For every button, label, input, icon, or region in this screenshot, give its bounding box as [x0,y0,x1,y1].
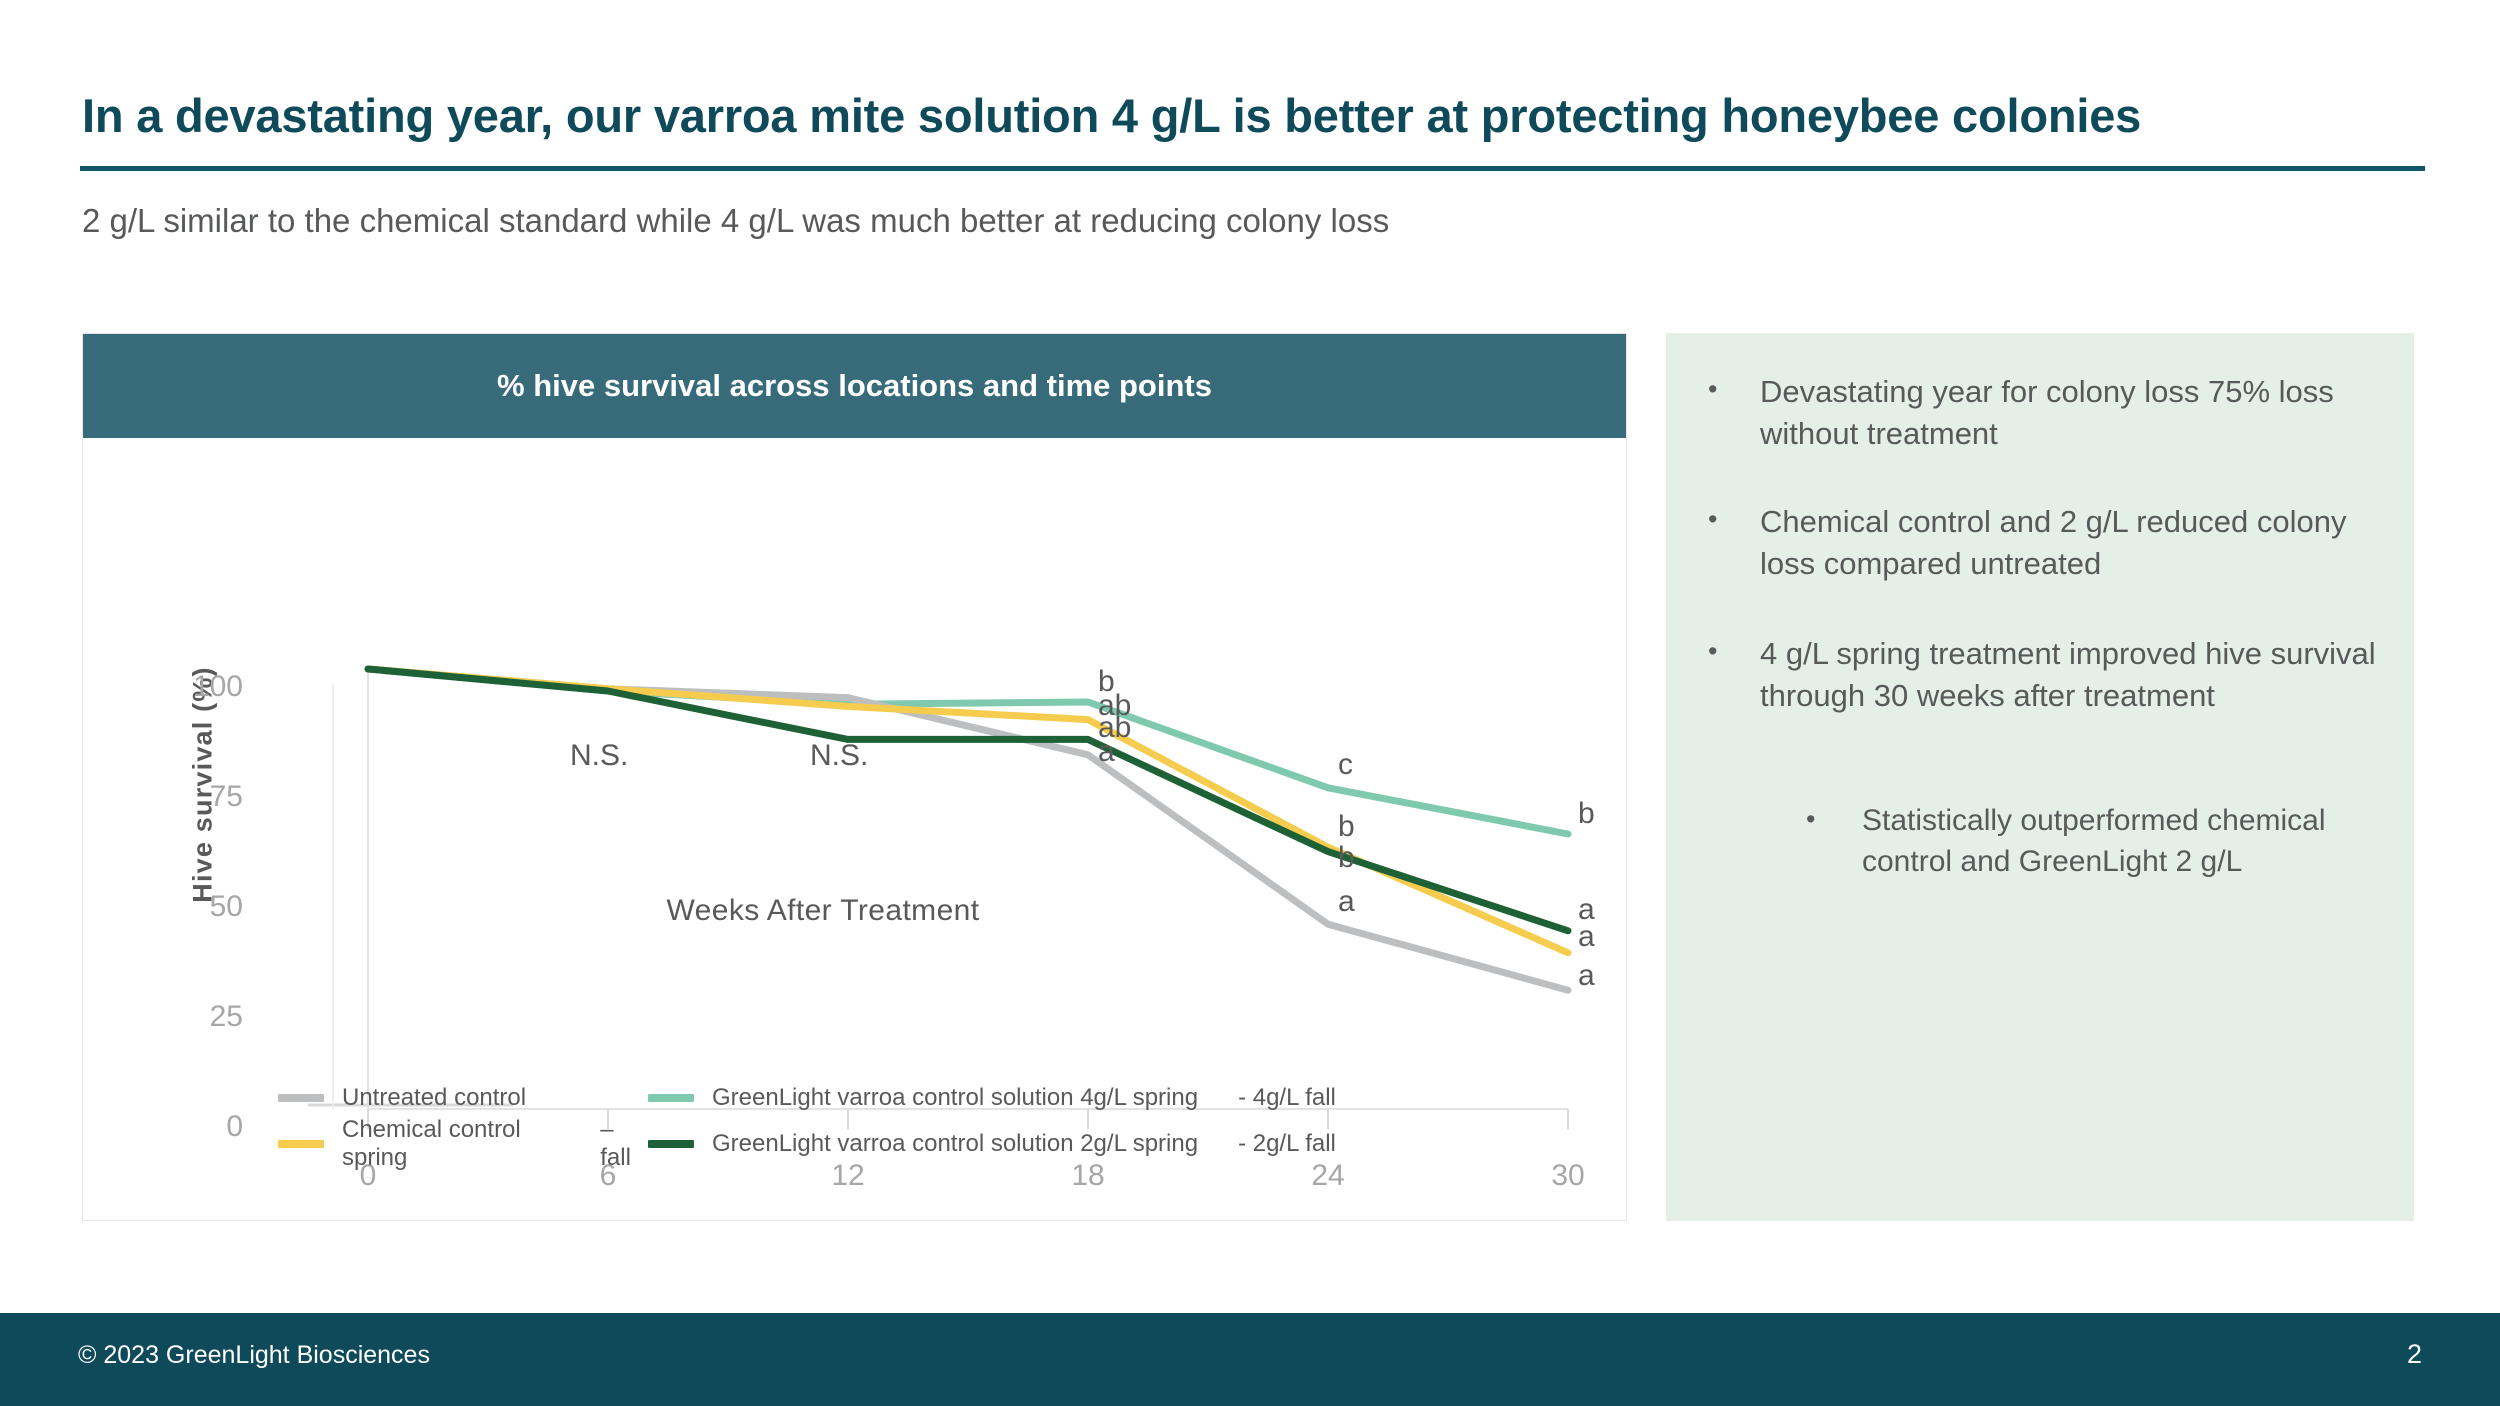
series-line-2 [368,669,1568,834]
legend-sublabel-chemical-control: – fall [600,1116,648,1172]
annotation-letter-18-5: a [1098,735,1115,769]
annotation-letter-30-13: a [1578,959,1595,993]
legend-sublabel-greenlight-4gl: - 4g/L fall [1238,1084,1336,1112]
legend-item-chemical-control[interactable]: Chemical control spring – fall [278,1116,648,1172]
legend-label-untreated-control: Untreated control [342,1084,526,1112]
legend-label-greenlight-4gl: GreenLight varroa control solution 4g/L … [712,1084,1198,1112]
series-line-0 [368,669,1568,990]
annotation-letter-24-7: b [1338,810,1355,844]
insights-panel: • Devastating year for colony loss 75% l… [1666,333,2414,1221]
bullet-glyph: • [1708,633,1760,717]
chart-plot-area: Hive survival (%) Weeks After Treatment … [83,439,1626,1220]
legend-item-greenlight-4gl[interactable]: GreenLight varroa control solution 4g/L … [648,1084,1336,1112]
legend-label-chemical-control: Chemical control spring [342,1116,578,1172]
bullet-glyph: • [1708,371,1760,455]
annotation-letter-24-8: b [1338,841,1355,875]
chart-card: % hive survival across locations and tim… [82,333,1627,1221]
title-divider [80,166,2425,171]
legend-swatch-greenlight-4gl [648,1094,694,1102]
annotation-letter-24-6: c [1338,748,1353,782]
insight-bullet-2: • Chemical control and 2 g/L reduced col… [1708,501,2398,585]
legend-swatch-greenlight-2gl [648,1140,694,1148]
series-lines [368,669,1568,990]
annotation-letter-24-9: a [1338,885,1355,919]
footer-copyright: © 2023 GreenLight Biosciences [78,1341,430,1370]
annotation-ns-6: N.S. [570,739,628,773]
legend-item-greenlight-2gl[interactable]: GreenLight varroa control solution 2g/L … [648,1130,1336,1158]
annotation-ns-12: N.S. [810,739,868,773]
insight-bullet-1-text: Devastating year for colony loss 75% los… [1760,371,2368,455]
chart-title: % hive survival across locations and tim… [497,368,1212,404]
legend-label-greenlight-2gl: GreenLight varroa control solution 2g/L … [712,1130,1198,1158]
series-line-1 [368,669,1568,953]
legend-row: Untreated control GreenLight varroa cont… [278,1075,1568,1121]
legend-sublabel-greenlight-2gl: - 2g/L fall [1238,1130,1336,1158]
insight-bullet-2-text: Chemical control and 2 g/L reduced colon… [1760,501,2398,585]
footer-page-number: 2 [2407,1339,2422,1370]
page-title: In a devastating year, our varroa mite s… [82,88,2412,143]
chart-legend: Untreated control GreenLight varroa cont… [278,1075,1568,1167]
page-subtitle: 2 g/L similar to the chemical standard w… [82,202,2412,240]
legend-row: Chemical control spring – fall GreenLigh… [278,1121,1568,1167]
insight-bullet-3-sub-1-text: Statistically outperformed chemical cont… [1862,801,2366,883]
insight-bullet-3-sub-1: • Statistically outperformed chemical co… [1806,801,2366,883]
bullet-glyph: • [1708,501,1760,585]
legend-item-untreated-control[interactable]: Untreated control [278,1084,648,1112]
legend-swatch-chemical-control [278,1140,324,1148]
insight-bullet-3: • 4 g/L spring treatment improved hive s… [1708,633,2408,717]
chart-header-banner: % hive survival across locations and tim… [83,334,1626,438]
legend-swatch-untreated-control [278,1094,324,1102]
annotation-letter-30-12: a [1578,920,1595,954]
insight-bullet-3-text: 4 g/L spring treatment improved hive sur… [1760,633,2408,717]
insight-bullet-1: • Devastating year for colony loss 75% l… [1708,371,2368,455]
annotation-letter-30-10: b [1578,797,1595,831]
bullet-glyph: • [1806,801,1862,883]
